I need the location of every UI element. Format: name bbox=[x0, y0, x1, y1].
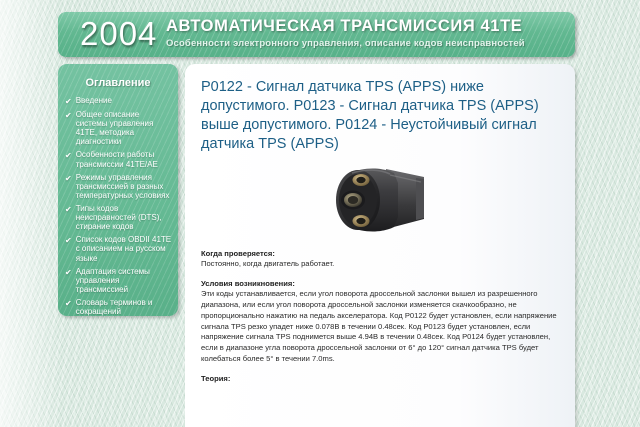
sidebar-item-label: Список кодов OBDII 41TE с описанием на р… bbox=[76, 235, 172, 262]
sidebar-item-obshchee-opisanie[interactable]: ✔ Общее описание системы управления 41TE… bbox=[65, 110, 172, 146]
sidebar-item-vvedenie[interactable]: ✔ Введение bbox=[65, 96, 172, 106]
sidebar-item-label: Особенности работы трансмиссии 41TE/AE bbox=[76, 150, 172, 168]
sidebar-item-tipy-kodov[interactable]: ✔ Типы кодов неисправностей (DTS), стира… bbox=[65, 204, 172, 231]
dtc-code-heading: P0122 - Сигнал датчика TPS (APPS) ниже д… bbox=[201, 78, 559, 153]
sidebar-item-rezhimy-upravleniya[interactable]: ✔ Режимы управления трансмиссией в разны… bbox=[65, 173, 172, 200]
sidebar-item-osobennosti-raboty[interactable]: ✔ Особенности работы трансмиссии 41TE/AE bbox=[65, 150, 172, 168]
sidebar-item-label: Типы кодов неисправностей (DTS), стирани… bbox=[76, 204, 172, 231]
sidebar-table-of-contents: Оглавление ✔ Введение ✔ Общее описание с… bbox=[58, 64, 178, 316]
section-body-when-checked: Постоянно, когда двигатель работает. bbox=[201, 259, 559, 270]
sidebar-item-label: Адаптация системы управления трансмиссие… bbox=[76, 267, 172, 294]
sidebar-item-label: Режимы управления трансмиссией в разных … bbox=[76, 173, 172, 200]
sidebar-item-label: Введение bbox=[76, 96, 112, 105]
content-inner: P0122 - Сигнал датчика TPS (APPS) ниже д… bbox=[185, 64, 575, 393]
check-icon: ✔ bbox=[65, 112, 72, 120]
sidebar-nav-list: ✔ Введение ✔ Общее описание системы упра… bbox=[58, 96, 178, 316]
page-title: АВТОМАТИЧЕСКАЯ ТРАНСМИССИЯ 41TE bbox=[166, 17, 525, 36]
site-header-banner: 2004 АВТОМАТИЧЕСКАЯ ТРАНСМИССИЯ 41TE Осо… bbox=[58, 12, 575, 57]
page-subtitle: Особенности электронного управления, опи… bbox=[166, 38, 525, 49]
header-year: 2004 bbox=[80, 15, 157, 53]
check-icon: ✔ bbox=[65, 300, 72, 308]
sidebar-item-label: Словарь терминов и сокращений bbox=[76, 298, 172, 316]
sidebar-item-slovar[interactable]: ✔ Словарь терминов и сокращений bbox=[65, 298, 172, 316]
check-icon: ✔ bbox=[65, 206, 72, 214]
sensor-figure bbox=[201, 161, 559, 239]
check-icon: ✔ bbox=[65, 98, 72, 106]
check-icon: ✔ bbox=[65, 269, 72, 277]
check-icon: ✔ bbox=[65, 175, 72, 183]
section-body-conditions: Эти коды устанавливается, если угол пово… bbox=[201, 289, 559, 364]
section-heading-when-checked: Когда проверяется: bbox=[201, 249, 559, 258]
sidebar-title: Оглавление bbox=[58, 64, 178, 96]
check-icon: ✔ bbox=[65, 237, 72, 245]
section-heading-conditions: Условия возникновения: bbox=[201, 279, 559, 288]
check-icon: ✔ bbox=[65, 152, 72, 160]
header-title-group: АВТОМАТИЧЕСКАЯ ТРАНСМИССИЯ 41TE Особенно… bbox=[166, 17, 525, 49]
sidebar-item-label: Общее описание системы управления 41TE, … bbox=[76, 110, 172, 146]
section-body-theory-clipped bbox=[201, 384, 559, 393]
content-panel: P0122 - Сигнал датчика TPS (APPS) ниже д… bbox=[185, 64, 575, 427]
section-heading-theory: Теория: bbox=[201, 374, 559, 383]
sidebar-item-spisok-kodov[interactable]: ✔ Список кодов OBDII 41TE с описанием на… bbox=[65, 235, 172, 262]
throttle-position-sensor-photo bbox=[320, 161, 440, 239]
sidebar-item-adaptaciya[interactable]: ✔ Адаптация системы управления трансмисс… bbox=[65, 267, 172, 294]
